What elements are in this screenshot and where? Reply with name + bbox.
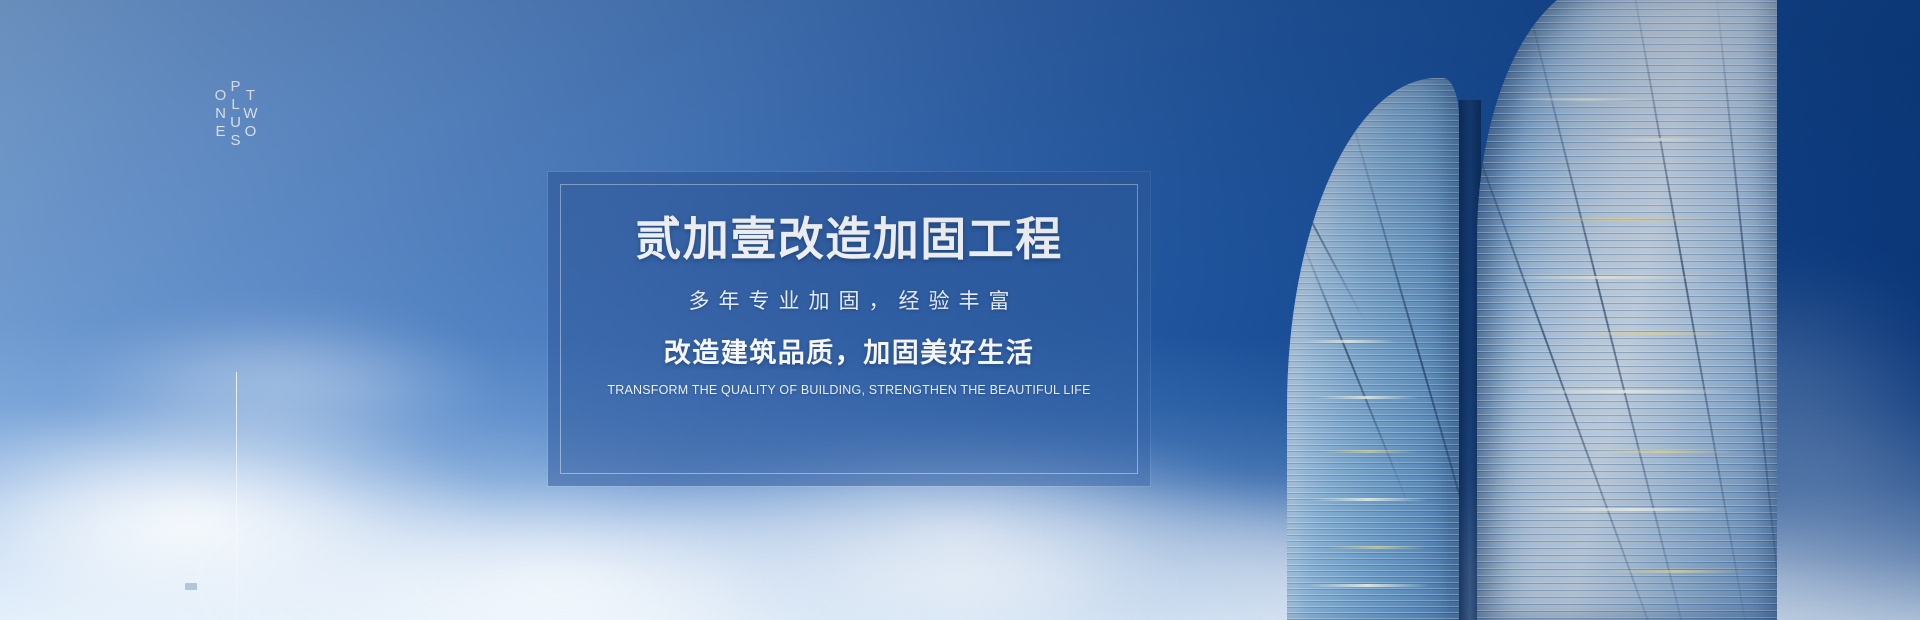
hero-banner: TWO PLUS ONE 贰加壹改造加固工程 多年专业加固，经验丰富 改造建筑品… bbox=[0, 0, 1920, 620]
photo-grain-overlay bbox=[0, 0, 1920, 620]
